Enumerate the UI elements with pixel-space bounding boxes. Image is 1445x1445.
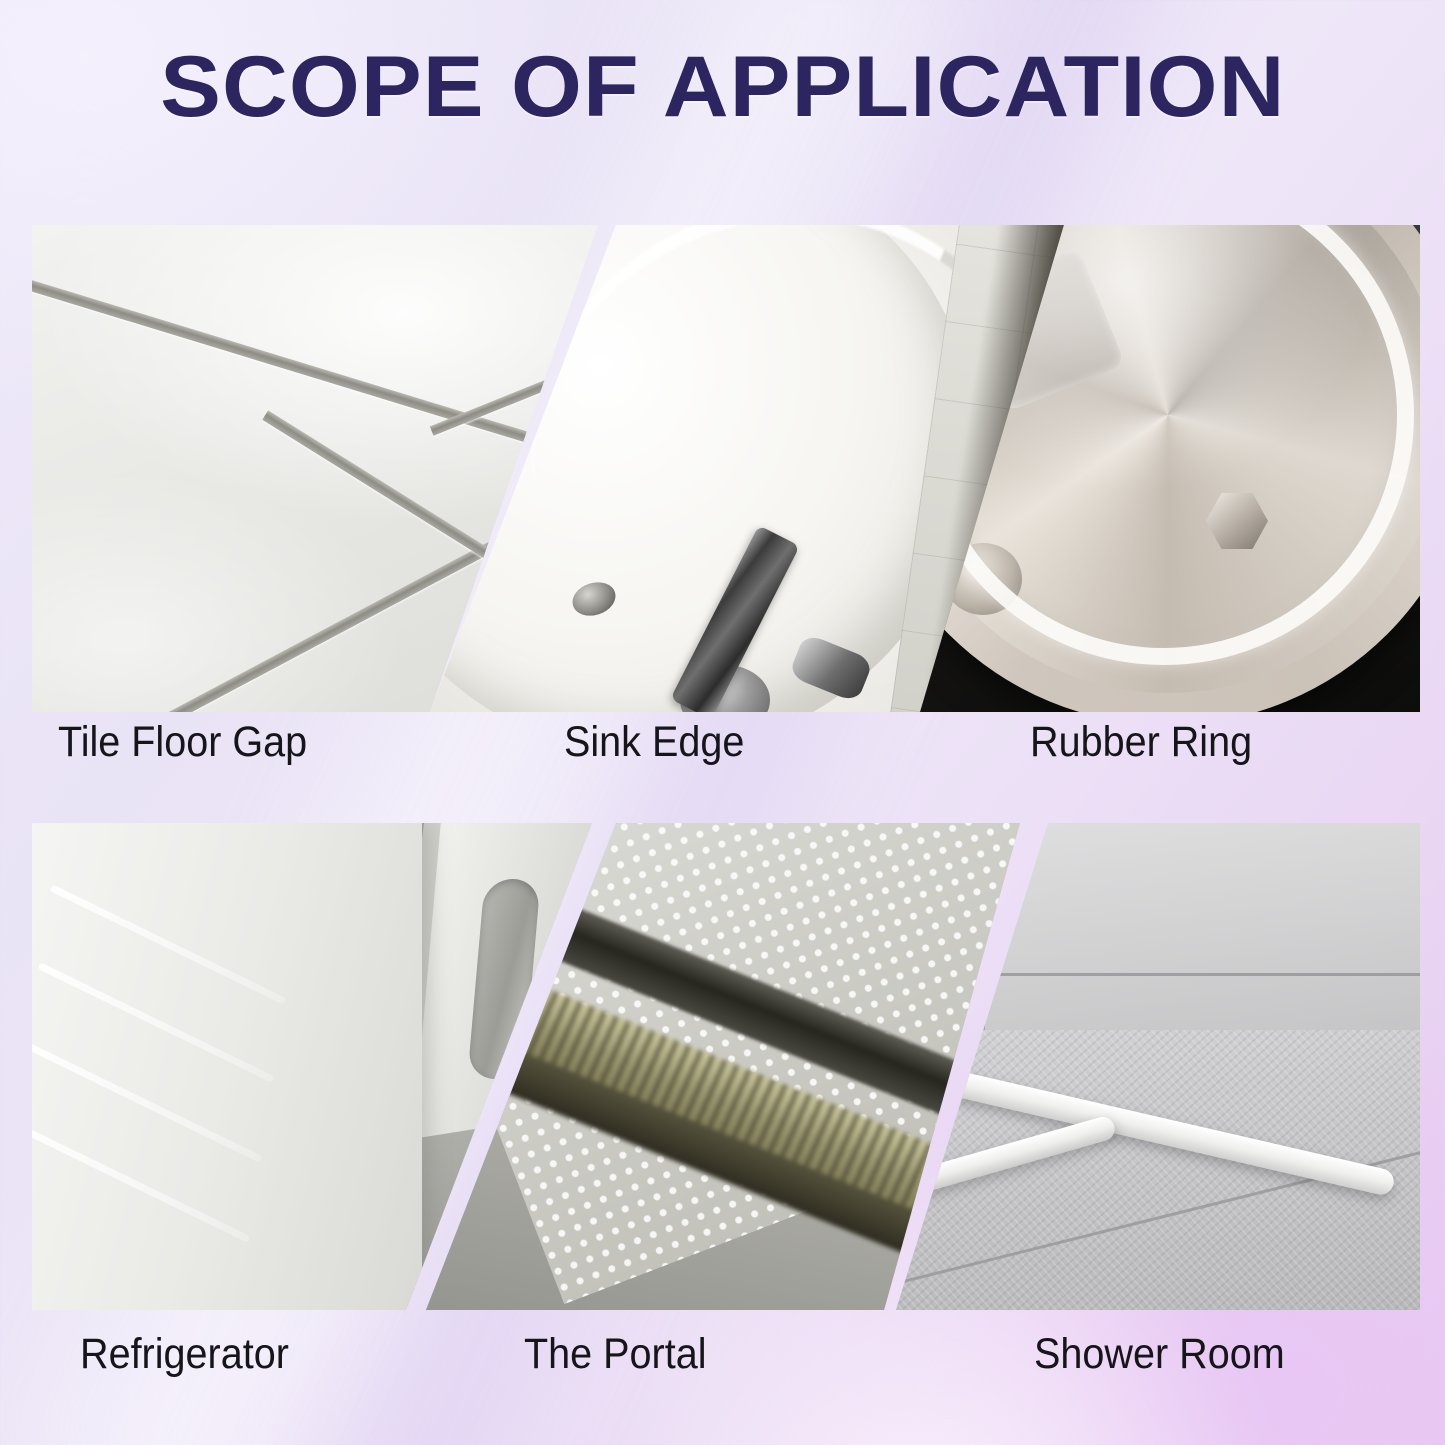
tile-label-the-portal: The Portal	[524, 1330, 707, 1379]
header: SCOPE OF APPLICATION	[0, 44, 1445, 130]
page-title: SCOPE OF APPLICATION	[160, 44, 1285, 130]
gallery-row-1-labels: Tile Floor Gap Sink Edge Rubber Ring	[0, 718, 1445, 788]
tile-label-refrigerator: Refrigerator	[80, 1330, 289, 1379]
wall-tile-seam	[940, 973, 1420, 976]
fridge-door-panel	[32, 823, 422, 1310]
tile-label-shower-room: Shower Room	[1034, 1330, 1285, 1379]
tile-label-rubber-ring: Rubber Ring	[1030, 718, 1252, 767]
gallery-row-2	[32, 823, 1420, 1310]
tile-label-sink-edge: Sink Edge	[564, 718, 744, 767]
tile-label-tile-floor-gap: Tile Floor Gap	[58, 718, 307, 767]
gallery-row-1	[32, 225, 1420, 712]
gallery-row-2-labels: Refrigerator The Portal Shower Room	[0, 1330, 1445, 1400]
